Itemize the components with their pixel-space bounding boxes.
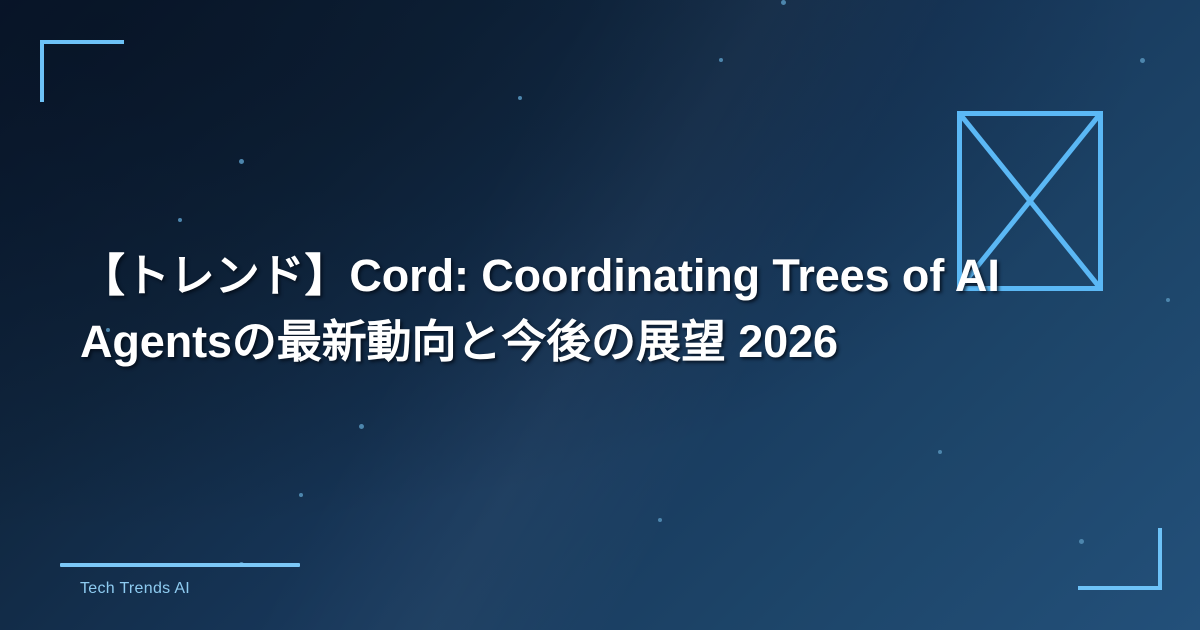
social-share-card: 【トレンド】Cord: Coordinating Trees of AI Age…	[0, 0, 1200, 630]
page-title: 【トレンド】Cord: Coordinating Trees of AI Age…	[80, 243, 1090, 374]
background-particle	[1140, 58, 1145, 63]
background-particle	[781, 0, 786, 5]
background-particle	[938, 450, 942, 454]
bracket-vertical-line	[1158, 528, 1162, 590]
bracket-vertical-line	[40, 40, 44, 102]
background-particle	[359, 424, 364, 429]
footer-accent-bar	[60, 563, 300, 567]
corner-bracket-top-left	[40, 40, 124, 102]
background-particle	[518, 96, 522, 100]
card-footer: Tech Trends AI	[60, 563, 300, 598]
bracket-horizontal-line	[40, 40, 124, 44]
background-particle	[178, 218, 182, 222]
background-particle	[1166, 298, 1170, 302]
background-particle	[719, 58, 723, 62]
bracket-horizontal-line	[1078, 586, 1162, 590]
background-particle	[299, 493, 303, 497]
background-particle	[239, 159, 244, 164]
brand-name: Tech Trends AI	[60, 580, 300, 598]
background-particle	[658, 518, 662, 522]
corner-bracket-bottom-right	[1078, 528, 1162, 590]
